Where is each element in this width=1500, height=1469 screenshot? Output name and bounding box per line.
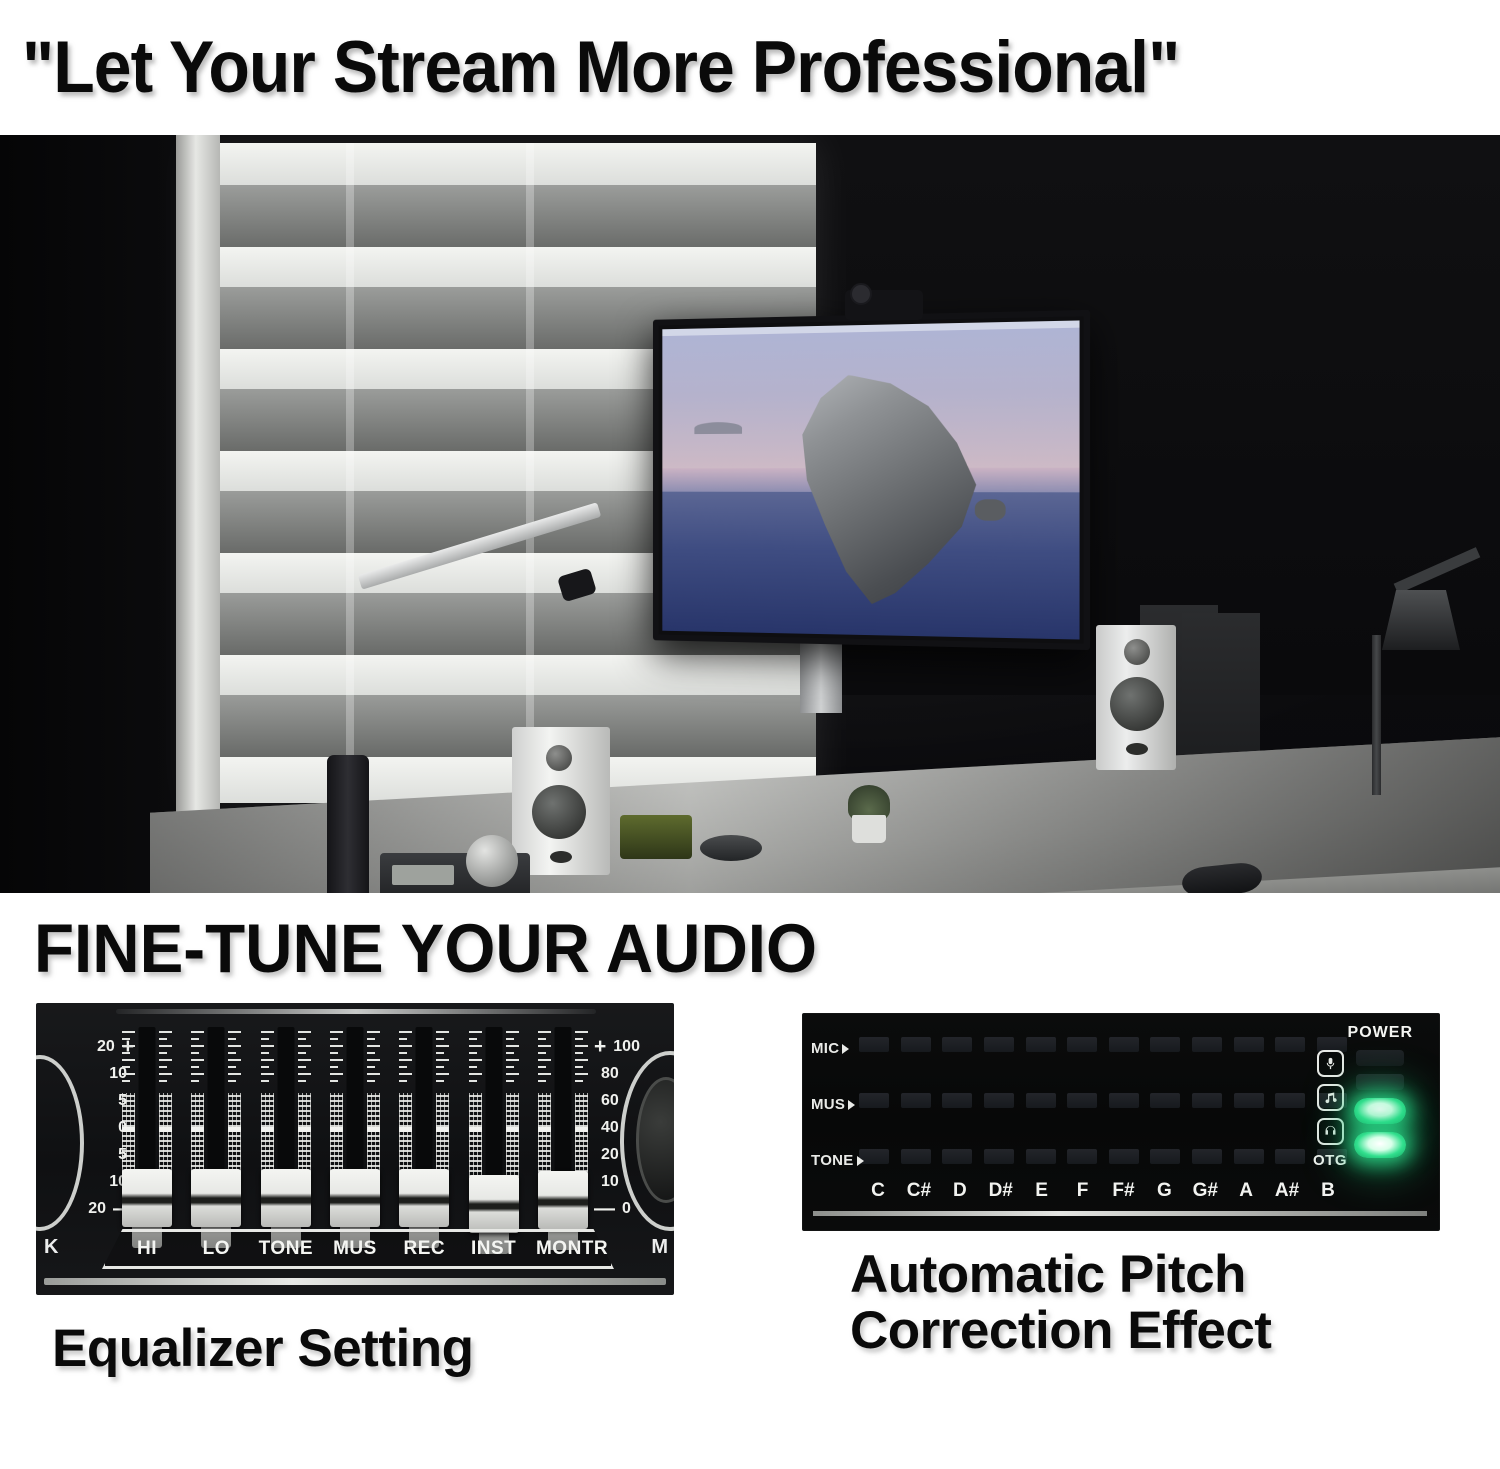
pitch-segment — [1192, 1037, 1222, 1052]
fader-ticks — [191, 1031, 204, 1082]
monitor-stand — [800, 635, 842, 713]
computer-monitor — [653, 310, 1090, 650]
fader-ticks — [159, 1031, 172, 1082]
note-label-F: F — [1064, 1180, 1102, 1202]
fader-grid — [436, 1093, 449, 1177]
pitch-segment — [1067, 1149, 1097, 1164]
curtain — [176, 135, 220, 835]
fader-ticks — [261, 1031, 274, 1082]
monitor-screen — [662, 320, 1079, 639]
note-label-E: E — [1023, 1180, 1061, 1202]
pitch-feature: OTG POWER CC#DD#EFF#GG#AA#B MICMUSTONE A… — [802, 1003, 1440, 1377]
note-label-Csharp: C# — [900, 1180, 938, 1202]
fader-grid — [575, 1093, 588, 1177]
fader-cap-tone[interactable] — [261, 1169, 311, 1227]
pitch-segment — [1026, 1149, 1056, 1164]
scale-tick-100: +100 — [594, 1033, 640, 1060]
fader-grid — [538, 1093, 551, 1177]
fader-grid — [261, 1093, 274, 1177]
fader-grid — [191, 1093, 204, 1177]
pitch-segment — [1150, 1037, 1180, 1052]
note-label-C: C — [859, 1180, 897, 1202]
fader-ticks — [298, 1031, 311, 1082]
pitch-segment — [1192, 1149, 1222, 1164]
pitch-panel-photo: OTG POWER CC#DD#EFF#GG#AA#B MICMUSTONE — [802, 1013, 1440, 1231]
fader-montr[interactable] — [536, 1027, 590, 1263]
scale-tick-80: 80 — [594, 1060, 619, 1087]
fader-mus[interactable] — [328, 1027, 382, 1263]
fader-ticks — [575, 1031, 588, 1082]
eq-scale-right: +1008060402010—0 — [594, 1033, 654, 1222]
pitch-caption: Automatic Pitch Correction Effect — [802, 1247, 1440, 1359]
pitch-segment — [1275, 1093, 1305, 1108]
power-indicator-column: POWER — [1348, 1024, 1413, 1158]
fader-ticks — [228, 1031, 241, 1082]
equalizer-panel-photo: 20+105051020— +1008060402010—0 HILOTONEM… — [36, 1003, 674, 1295]
fader-grid — [330, 1093, 343, 1177]
fader-ticks — [436, 1031, 449, 1082]
pitch-segment — [984, 1037, 1014, 1052]
pitch-segment-grid — [859, 1034, 1347, 1166]
pitch-mode-icons: OTG — [1313, 1050, 1347, 1169]
scale-value: 20 — [97, 1038, 115, 1056]
fader-ticks — [469, 1031, 482, 1082]
microphone — [327, 755, 369, 893]
fader-cap-montr[interactable] — [538, 1171, 588, 1229]
fader-ticks — [122, 1031, 135, 1082]
scale-value: 60 — [601, 1092, 619, 1110]
equalizer-caption: Equalizer Setting — [36, 1321, 674, 1377]
pitch-segment — [901, 1093, 931, 1108]
pitch-segment — [1275, 1037, 1305, 1052]
fader-cap-hi[interactable] — [122, 1169, 172, 1227]
pitch-segment — [1026, 1037, 1056, 1052]
note-label-Gsharp: G# — [1186, 1180, 1224, 1202]
fader-ticks — [538, 1031, 551, 1082]
fader-grid — [367, 1093, 380, 1177]
scale-value: 10 — [601, 1173, 619, 1191]
led-otg — [1354, 1132, 1406, 1158]
plant-pot — [852, 815, 886, 843]
pitch-segment — [901, 1149, 931, 1164]
pitch-segment — [1150, 1149, 1180, 1164]
scale-sign: + — [594, 1036, 606, 1057]
fader-label-rec: REC — [397, 1238, 451, 1260]
pitch-row-label-mus: MUS — [811, 1096, 855, 1113]
scale-tick-60: 60 — [594, 1087, 619, 1114]
pitch-row-label-mic: MIC — [811, 1040, 849, 1057]
pitch-caption-line1: Automatic Pitch — [850, 1247, 1440, 1303]
page-headline: "Let Your Stream More Professional" — [22, 26, 1179, 109]
audio-interface-volume-knob — [466, 835, 518, 887]
audio-interface-display — [392, 865, 454, 885]
pitch-segment — [984, 1149, 1014, 1164]
fader-tone[interactable] — [259, 1027, 313, 1263]
eq-fader-bank — [120, 1027, 590, 1263]
fader-label-tone: TONE — [259, 1238, 313, 1260]
fader-hi[interactable] — [120, 1027, 174, 1263]
section-title: FINE-TUNE YOUR AUDIO — [34, 909, 817, 988]
pitch-segment — [1109, 1149, 1139, 1164]
arrow-right-icon — [848, 1100, 855, 1110]
fader-grid — [399, 1093, 412, 1177]
note-label-B: B — [1309, 1180, 1347, 1202]
scale-value: 100 — [613, 1038, 640, 1056]
desk-lamp-pole — [1372, 635, 1381, 795]
note-label-Asharp: A# — [1268, 1180, 1306, 1202]
pitch-segment — [1109, 1093, 1139, 1108]
scale-tick-20: 20 — [594, 1141, 619, 1168]
scale-value: 20 — [601, 1146, 619, 1164]
pitch-note-labels: CC#DD#EFF#GG#AA#B — [859, 1180, 1347, 1202]
music-note-icon — [1317, 1084, 1344, 1111]
led-mic — [1356, 1050, 1404, 1066]
edge-letter-right: M — [651, 1236, 668, 1259]
fader-label-montr: MONTR — [536, 1238, 590, 1260]
fader-label-inst: INST — [467, 1238, 521, 1260]
pitch-segment — [1150, 1093, 1180, 1108]
led-music — [1356, 1074, 1404, 1090]
pitch-row-label-tone: TONE — [811, 1152, 864, 1169]
fader-cap-rec[interactable] — [399, 1169, 449, 1227]
wall-left — [0, 135, 200, 893]
fader-rec[interactable] — [397, 1027, 451, 1263]
scale-value: 0 — [622, 1200, 631, 1218]
pitch-segment — [1109, 1037, 1139, 1052]
power-label: POWER — [1348, 1024, 1413, 1042]
pitch-row-tone[interactable] — [859, 1146, 1347, 1166]
pitch-segment — [984, 1093, 1014, 1108]
pitch-segment — [1192, 1093, 1222, 1108]
fader-label-hi: HI — [120, 1238, 174, 1260]
fader-grid — [298, 1093, 311, 1177]
headphone-pad — [700, 835, 762, 861]
note-label-Fsharp: F# — [1104, 1180, 1142, 1202]
arrow-right-icon — [842, 1044, 849, 1054]
scale-tick-0: —0 — [594, 1195, 631, 1222]
fader-lo[interactable] — [189, 1027, 243, 1263]
section-title-band: FINE-TUNE YOUR AUDIO — [0, 893, 1500, 1003]
note-label-Dsharp: D# — [982, 1180, 1020, 1202]
fader-ticks — [330, 1031, 343, 1082]
pitch-caption-line2: Correction Effect — [850, 1303, 1440, 1359]
mic-knob-edge — [36, 1055, 84, 1231]
pitch-segment — [1067, 1037, 1097, 1052]
scale-tick-10: 10 — [594, 1168, 619, 1195]
fader-grid — [469, 1093, 482, 1177]
headphone-icon — [1317, 1118, 1344, 1145]
led-headphone — [1354, 1098, 1406, 1124]
pitch-row-mic[interactable] — [859, 1034, 1347, 1054]
microphone-icon — [1317, 1050, 1344, 1077]
fader-grid — [122, 1093, 135, 1177]
fader-grid — [506, 1093, 519, 1177]
note-label-A: A — [1227, 1180, 1265, 1202]
desk-accessory — [620, 815, 692, 859]
pitch-segment — [1026, 1093, 1056, 1108]
pitch-segment — [942, 1093, 972, 1108]
pitch-segment — [942, 1149, 972, 1164]
webcam-lens-icon — [850, 283, 872, 305]
fader-ticks — [399, 1031, 412, 1082]
pitch-row-mus[interactable] — [859, 1090, 1347, 1110]
studio-speaker-right — [1096, 625, 1176, 770]
pitch-segment — [1275, 1149, 1305, 1164]
pitch-segment — [1234, 1149, 1264, 1164]
headline-band: "Let Your Stream More Professional" — [0, 0, 1500, 135]
fader-ticks — [367, 1031, 380, 1082]
pitch-segment — [1067, 1093, 1097, 1108]
fader-grid — [159, 1093, 172, 1177]
equalizer-feature: 20+105051020— +1008060402010—0 HILOTONEM… — [36, 1003, 674, 1377]
fader-ticks — [506, 1031, 519, 1082]
arrow-right-icon — [857, 1156, 864, 1166]
fader-cap-lo[interactable] — [191, 1169, 241, 1227]
edge-letter-left: K — [44, 1236, 58, 1259]
fader-label-lo: LO — [189, 1238, 243, 1260]
eq-fader-labels: HILOTONEMUSRECINSTMONTR — [120, 1233, 590, 1265]
note-label-D: D — [941, 1180, 979, 1202]
pitch-segment — [859, 1093, 889, 1108]
hero-photo: Microphone A1 — [0, 135, 1500, 893]
fader-label-mus: MUS — [328, 1238, 382, 1260]
feature-panels: 20+105051020— +1008060402010—0 HILOTONEM… — [0, 1003, 1500, 1377]
pitch-segment — [859, 1037, 889, 1052]
otg-label: OTG — [1313, 1152, 1347, 1169]
fader-cap-mus[interactable] — [330, 1169, 380, 1227]
note-label-G: G — [1145, 1180, 1183, 1202]
scale-value: 40 — [601, 1119, 619, 1137]
pitch-segment — [1234, 1093, 1264, 1108]
scale-value: 80 — [601, 1065, 619, 1083]
fader-grid — [228, 1093, 241, 1177]
pitch-segment — [1234, 1037, 1264, 1052]
fader-inst[interactable] — [467, 1027, 521, 1263]
fader-cap-inst[interactable] — [469, 1175, 519, 1233]
pitch-segment — [942, 1037, 972, 1052]
scale-value: 20 — [88, 1200, 106, 1218]
scale-tick-40: 40 — [594, 1114, 619, 1141]
scale-sign: — — [594, 1198, 615, 1219]
pitch-segment — [901, 1037, 931, 1052]
